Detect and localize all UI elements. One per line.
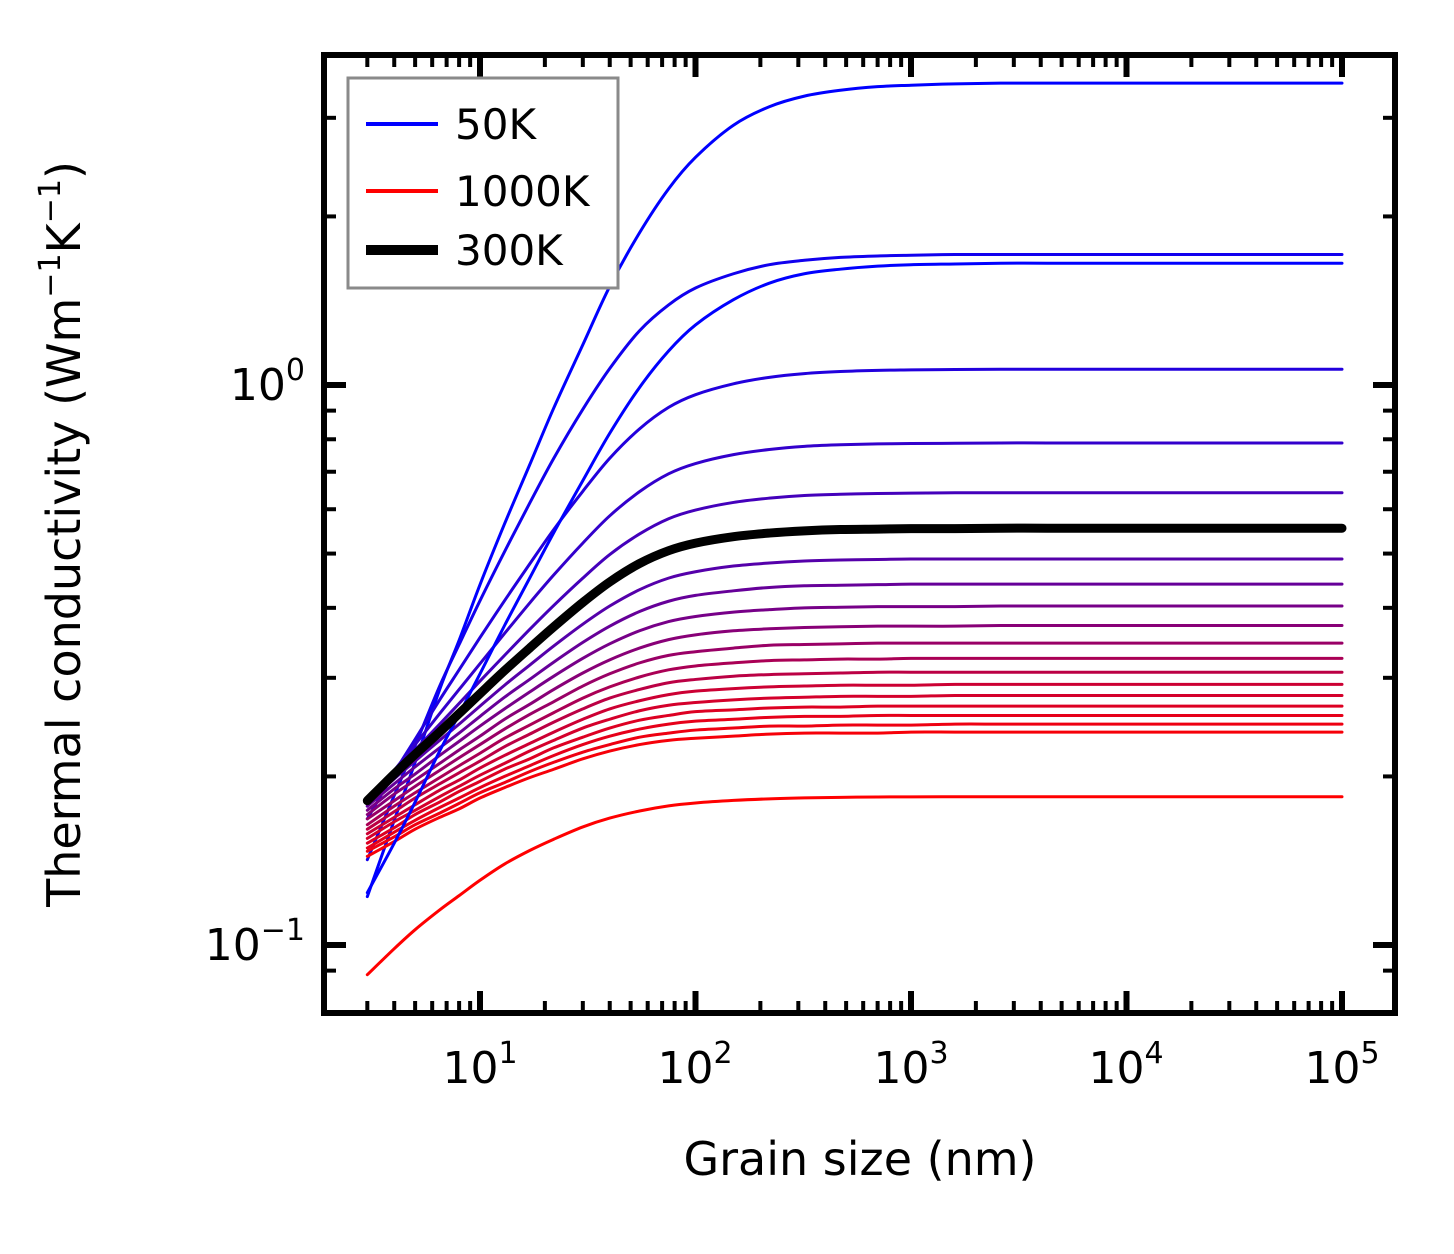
y-tick-label-1: 10−1 (205, 913, 305, 971)
y-tick-label-0: 100 (230, 353, 305, 411)
x-tick-label-1: 102 (657, 1036, 732, 1094)
legend-label-300k: 300K (455, 226, 564, 275)
x-axis-title: Grain size (nm) (684, 1132, 1037, 1186)
y-axis-title: Thermal conductivity (Wm−1K−1) (33, 161, 91, 908)
x-tick-labels: 101 102 103 104 105 (442, 1036, 1379, 1094)
chart-svg: 101 102 103 104 105 100 10−1 G (0, 0, 1454, 1254)
x-tick-label-0: 101 (442, 1036, 517, 1094)
x-tick-label-2: 103 (873, 1036, 948, 1094)
figure-canvas: 101 102 103 104 105 100 10−1 G (0, 0, 1454, 1254)
legend-label-50k: 50K (455, 100, 537, 149)
x-tick-label-4: 105 (1304, 1036, 1379, 1094)
x-tick-label-3: 104 (1088, 1036, 1163, 1094)
legend[interactable]: 50K 1000K 300K (348, 78, 618, 288)
y-tick-labels: 100 10−1 (205, 353, 305, 971)
legend-label-1000k: 1000K (455, 167, 591, 216)
